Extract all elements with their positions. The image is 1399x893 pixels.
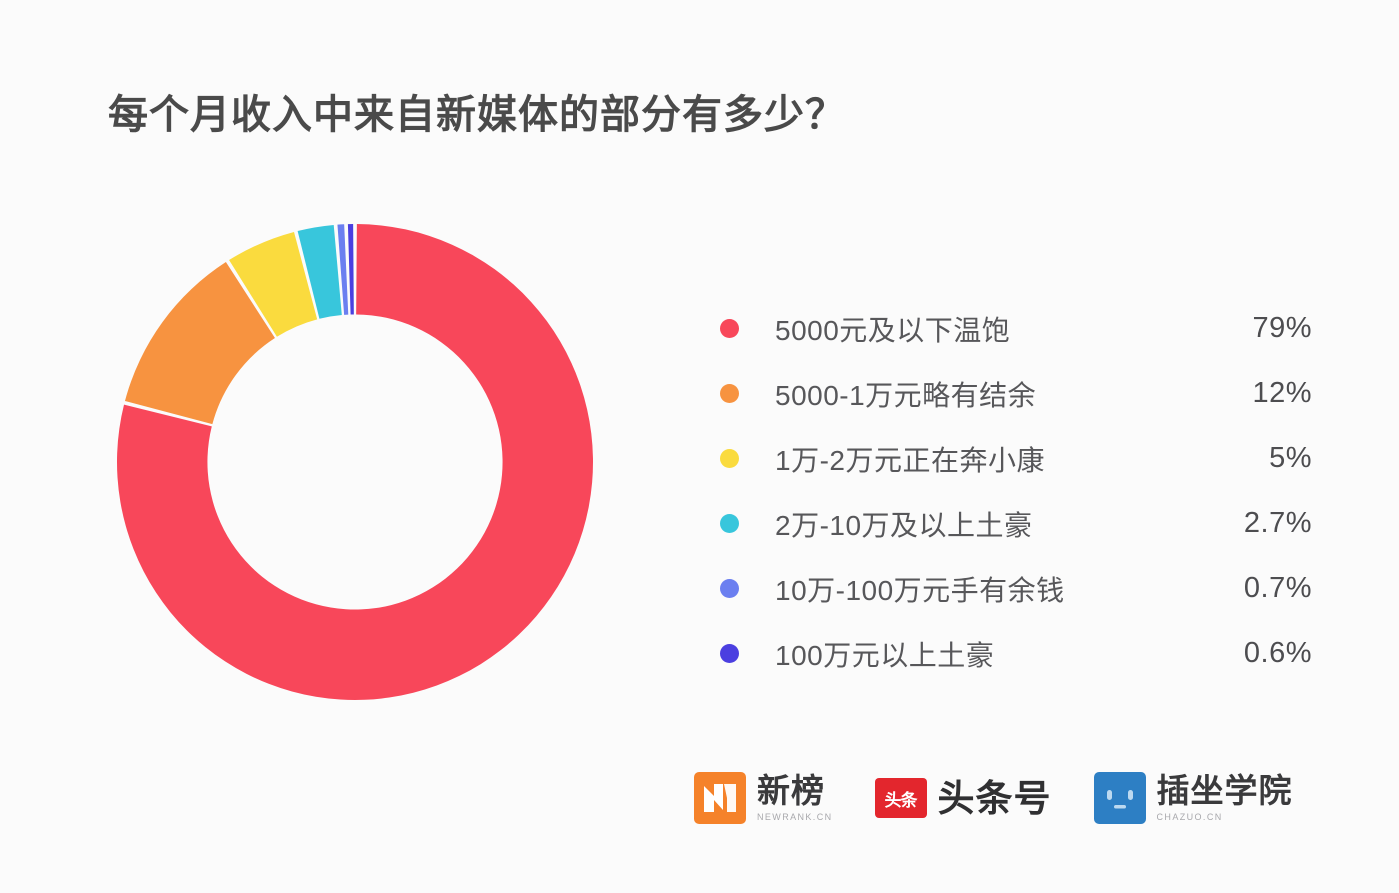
legend-item-2[interactable]: 1万-2万元正在奔小康 5%	[712, 426, 1312, 491]
logo-chazuo[interactable]: 插坐学院 CHAZUO.CN	[1094, 772, 1293, 824]
chazuo-mark-icon	[1094, 772, 1146, 824]
legend-value-4: 0.7%	[1244, 572, 1312, 605]
donut-slice-5[interactable]	[348, 224, 354, 314]
chazuo-face-glyph	[1094, 772, 1146, 824]
legend-value-1: 12%	[1252, 377, 1312, 410]
toutiaohao-mark-icon: 头条	[875, 778, 927, 818]
chazuo-name: 插坐学院	[1157, 774, 1293, 809]
legend-label-5: 100万元以上土豪	[775, 634, 994, 674]
toutiaohao-text: 头条号	[938, 780, 1052, 817]
legend-item-1[interactable]: 5000-1万元略有结余 12%	[712, 361, 1312, 426]
legend-color-dot-3	[720, 514, 739, 533]
newrank-n-glyph	[694, 772, 746, 824]
newrank-mark-icon	[694, 772, 746, 824]
legend-value-5: 0.6%	[1244, 637, 1312, 670]
legend-value-0: 79%	[1252, 312, 1312, 345]
logo-newrank[interactable]: 新榜 NEWRANK.CN	[694, 772, 833, 824]
donut-chart	[115, 222, 595, 702]
legend-color-dot-4	[720, 579, 739, 598]
legend-item-3[interactable]: 2万-10万及以上土豪 2.7%	[712, 491, 1312, 556]
newrank-name: 新榜	[757, 774, 833, 809]
footer-logos: 新榜 NEWRANK.CN 头条 头条号 插坐学院	[694, 772, 1293, 824]
toutiaohao-mark-label: 头条	[875, 778, 927, 818]
legend-item-4[interactable]: 10万-100万元手有余钱 0.7%	[712, 556, 1312, 621]
legend-label-0: 5000元及以下温饱	[775, 309, 1010, 349]
legend-color-dot-1	[720, 384, 739, 403]
page-title: 每个月收入中来自新媒体的部分有多少？	[108, 82, 846, 140]
legend-item-0[interactable]: 5000元及以下温饱 79%	[712, 296, 1312, 361]
legend-label-2: 1万-2万元正在奔小康	[775, 439, 1045, 479]
legend-label-3: 2万-10万及以上土豪	[775, 504, 1033, 544]
legend-value-3: 2.7%	[1244, 507, 1312, 540]
legend-color-dot-2	[720, 449, 739, 468]
legend-color-dot-5	[720, 644, 739, 663]
newrank-domain: NEWRANK.CN	[757, 812, 833, 822]
legend-item-5[interactable]: 100万元以上土豪 0.6%	[712, 621, 1312, 686]
toutiaohao-name: 头条号	[938, 780, 1052, 817]
donut-slices	[117, 224, 593, 700]
chazuo-domain: CHAZUO.CN	[1157, 812, 1293, 822]
chart-legend: 5000元及以下温饱 79% 5000-1万元略有结余 12% 1万-2万元正在…	[712, 296, 1312, 686]
legend-value-2: 5%	[1269, 442, 1312, 475]
chart-page: 每个月收入中来自新媒体的部分有多少？ 5000元及以下温饱 79% 5000-1…	[0, 0, 1399, 893]
legend-label-4: 10万-100万元手有余钱	[775, 569, 1065, 609]
logo-toutiaohao[interactable]: 头条 头条号	[875, 778, 1052, 818]
legend-label-1: 5000-1万元略有结余	[775, 374, 1036, 414]
legend-color-dot-0	[720, 319, 739, 338]
chazuo-text: 插坐学院 CHAZUO.CN	[1157, 774, 1293, 822]
newrank-text: 新榜 NEWRANK.CN	[757, 774, 833, 822]
donut-svg	[115, 222, 595, 702]
